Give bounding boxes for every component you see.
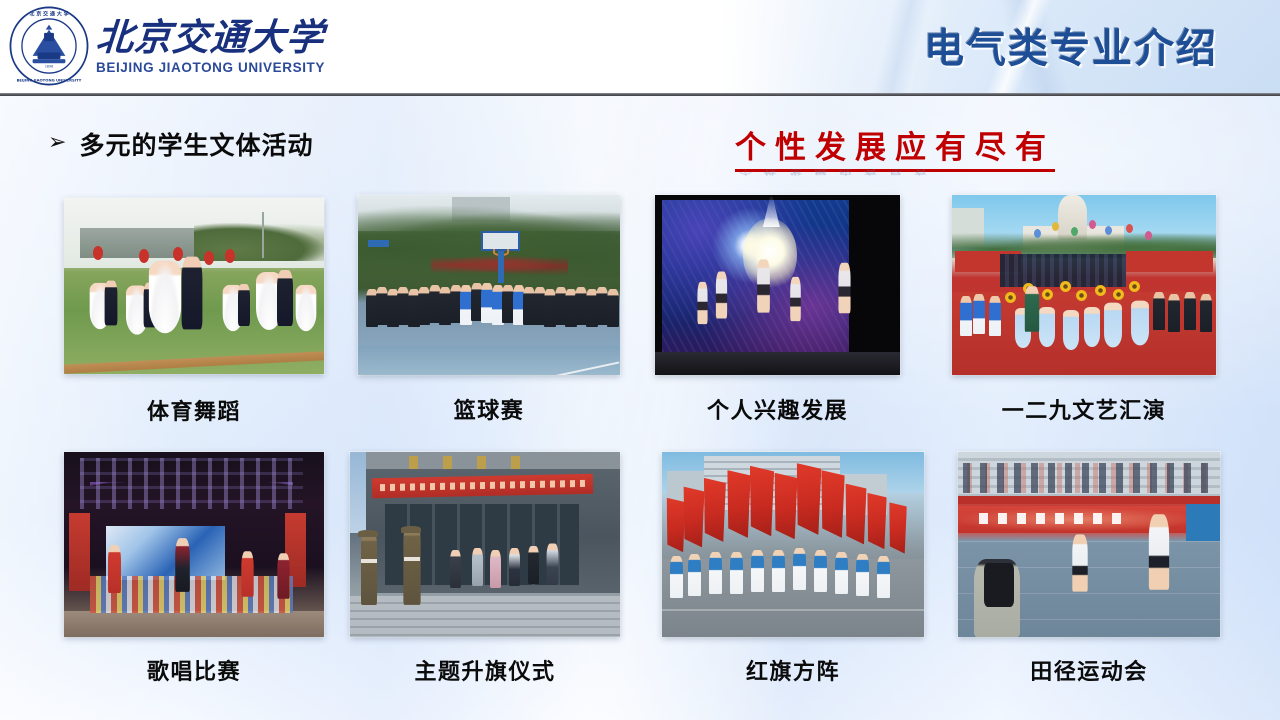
photo-sports-dance — [64, 198, 324, 374]
university-seal-icon: 北 京 交 通 大 学 BEIJING JIAOTONG UNIVERSITY … — [8, 5, 90, 87]
photo-athletics-meet — [958, 452, 1220, 637]
photo-cell-basketball: 篮球赛 — [358, 195, 620, 375]
photo-choral-gala — [952, 195, 1216, 375]
university-name-en: BEIJING JIAOTONG UNIVERSITY — [96, 61, 325, 75]
slide: 北 京 交 通 大 学 BEIJING JIAOTONG UNIVERSITY … — [0, 0, 1280, 720]
photo-caption: 红旗方阵 — [662, 654, 924, 686]
header-divider — [0, 93, 1280, 96]
highlight-headline: 个性发展应有尽有 — [735, 122, 1055, 172]
photo-grid: 体育舞蹈 — [0, 190, 1280, 690]
photo-caption: 主题升旗仪式 — [350, 654, 620, 686]
slide-header: 北 京 交 通 大 学 BEIJING JIAOTONG UNIVERSITY … — [0, 0, 1280, 96]
bullet-arrow-icon: ➢ — [48, 132, 66, 154]
photo-singing-contest — [64, 452, 324, 637]
svg-text:BEIJING JIAOTONG UNIVERSITY: BEIJING JIAOTONG UNIVERSITY — [17, 78, 82, 82]
photo-basketball — [358, 195, 620, 375]
photo-caption: 体育舞蹈 — [64, 394, 324, 426]
photo-flag-formation — [662, 452, 924, 637]
photo-cell-athletics-meet: 田径运动会 — [958, 452, 1220, 637]
photo-stage-dance — [655, 195, 900, 375]
photo-cell-flag-formation: 红旗方阵 — [662, 452, 924, 637]
photo-cell-flag-ceremony: 主题升旗仪式 — [350, 452, 620, 637]
photo-flag-ceremony — [350, 452, 620, 637]
photo-caption: 篮球赛 — [358, 393, 620, 425]
photo-caption: 一二九文艺汇演 — [952, 393, 1216, 425]
university-wordmark: 北京交通大学 BEIJING JIAOTONG UNIVERSITY — [96, 17, 325, 75]
highlight-headline-reflection: 个性发展应有尽有 — [739, 168, 939, 178]
photo-caption: 田径运动会 — [958, 654, 1220, 686]
university-name-cn: 北京交通大学 — [95, 19, 327, 58]
photo-caption: 歌唱比赛 — [64, 654, 324, 686]
svg-text:1896: 1896 — [45, 64, 53, 68]
university-logo: 北 京 交 通 大 学 BEIJING JIAOTONG UNIVERSITY … — [8, 3, 338, 89]
photo-cell-singing-contest: 歌唱比赛 — [64, 452, 324, 637]
section-heading-label: 多元的学生文体活动 — [79, 126, 313, 162]
photo-cell-choral-gala: 一二九文艺汇演 — [952, 195, 1216, 375]
slide-title: 电气类专业介绍 — [924, 16, 1218, 74]
photo-caption: 个人兴趣发展 — [655, 393, 900, 425]
svg-text:北 京 交 通 大 学: 北 京 交 通 大 学 — [29, 11, 68, 18]
photo-cell-stage-dance: 个人兴趣发展 — [655, 195, 900, 375]
section-heading: ➢ 多元的学生文体活动 — [48, 126, 313, 162]
photo-cell-sports-dance: 体育舞蹈 — [64, 198, 324, 374]
